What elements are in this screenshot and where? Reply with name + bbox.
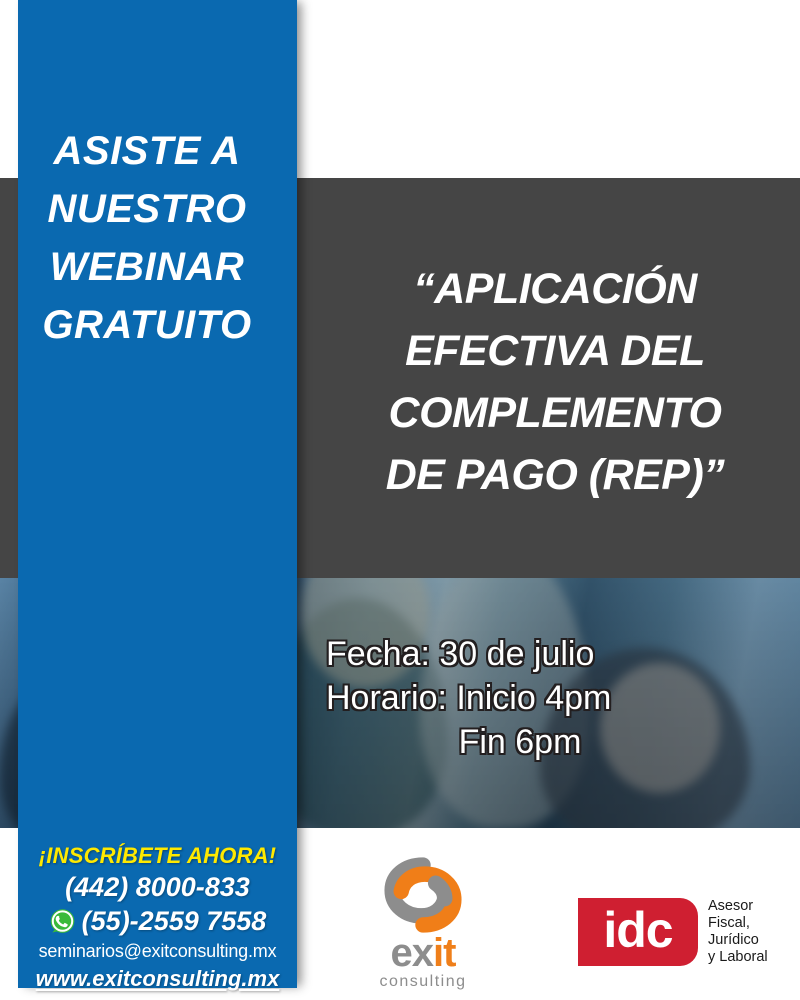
title-line-4: DE PAGO (REP)” [330, 444, 780, 506]
event-schedule: Fecha: 30 de julio Horario: Inicio 4pm F… [320, 632, 720, 764]
exit-loop-mark [368, 856, 478, 934]
exit-logo-subtitle: consulting [338, 972, 508, 992]
idc-tagline-line-1: Asesor [708, 898, 768, 915]
idc-logo[interactable]: idc Asesor Fiscal, Jurídico y Laboral [578, 898, 768, 966]
exit-consulting-logo[interactable]: exit consulting [338, 856, 508, 988]
kicker-line-2: NUESTRO [22, 180, 272, 238]
webinar-poster: ASISTE A NUESTRO WEBINAR GRATUITO “APLIC… [0, 0, 800, 1000]
webinar-title: “APLICACIÓN EFECTIVA DEL COMPLEMENTO DE … [330, 258, 780, 506]
phone-primary[interactable]: (442) 8000-833 [18, 870, 297, 904]
website-link[interactable]: www.exitconsulting.mx [18, 964, 297, 994]
title-line-2: EFECTIVA DEL [330, 320, 780, 382]
contact-email[interactable]: seminarios@exitconsulting.mx [18, 938, 297, 964]
phone-whatsapp: (55)-2559 7558 [82, 904, 267, 938]
contact-block: ¡INSCRÍBETE AHORA! (442) 8000-833 (55)-2… [18, 842, 297, 994]
idc-tagline-line-4: y Laboral [708, 949, 768, 966]
schedule-date: Fecha: 30 de julio [320, 632, 720, 676]
register-now-cta[interactable]: ¡INSCRÍBETE AHORA! [18, 842, 297, 870]
kicker-line-1: ASISTE A [22, 122, 272, 180]
kicker-line-4: GRATUITO [22, 296, 272, 354]
exit-wordmark-suffix: it [433, 931, 455, 975]
idc-tagline-line-2: Fiscal, [708, 915, 768, 932]
title-line-3: COMPLEMENTO [330, 382, 780, 444]
kicker-line-3: WEBINAR [22, 238, 272, 296]
idc-red-block: idc [578, 898, 698, 966]
exit-wordmark: exit [338, 936, 508, 970]
idc-tagline-line-3: Jurídico [708, 932, 768, 949]
schedule-end-time: Fin 6pm [320, 720, 720, 764]
exit-wordmark-prefix: ex [391, 931, 434, 975]
idc-tagline: Asesor Fiscal, Jurídico y Laboral [708, 898, 768, 966]
idc-wordmark: idc [603, 905, 672, 955]
whatsapp-icon [49, 908, 76, 935]
kicker-headline: ASISTE A NUESTRO WEBINAR GRATUITO [22, 122, 272, 354]
title-line-1: “APLICACIÓN [330, 258, 780, 320]
whatsapp-row[interactable]: (55)-2559 7558 [18, 904, 297, 938]
schedule-start-time: Horario: Inicio 4pm [320, 676, 720, 720]
